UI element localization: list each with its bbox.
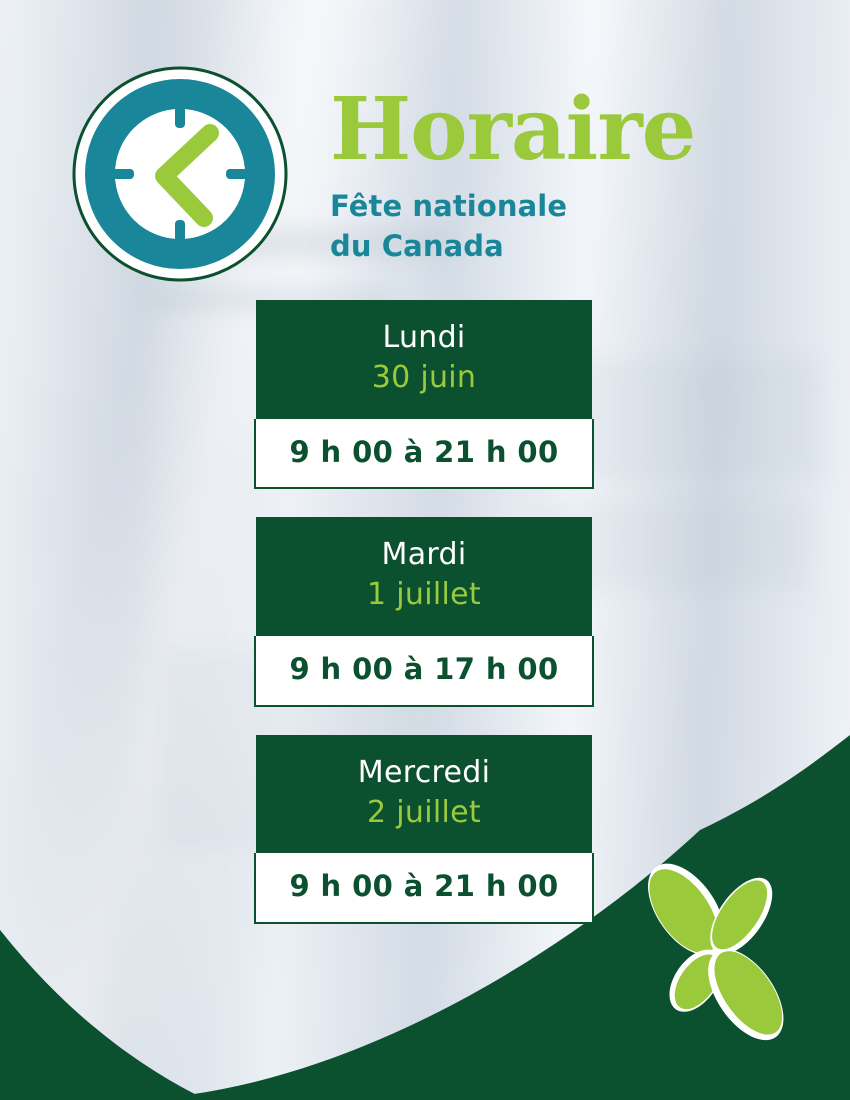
page-subtitle: Fête nationale du Canada: [330, 186, 750, 266]
schedule-card-body: 9 h 00 à 21 h 00: [254, 853, 594, 924]
page-title: Horaire: [330, 88, 750, 172]
schedule-card-list: Lundi 30 juin 9 h 00 à 21 h 00 Mardi 1 j…: [256, 300, 592, 924]
schedule-card-hours: 9 h 00 à 21 h 00: [262, 437, 586, 469]
schedule-card-date: 2 juillet: [266, 794, 582, 832]
page-subtitle-line1: Fête nationale: [330, 186, 750, 226]
schedule-card-day: Mercredi: [266, 755, 582, 791]
schedule-card: Mardi 1 juillet 9 h 00 à 17 h 00: [256, 517, 592, 706]
page-subtitle-line2: du Canada: [330, 226, 750, 266]
schedule-card-day: Lundi: [266, 320, 582, 356]
clock-icon: [72, 66, 288, 282]
schedule-card-date: 30 juin: [266, 359, 582, 397]
schedule-card-hours: 9 h 00 à 21 h 00: [262, 871, 586, 903]
schedule-card-header: Mardi 1 juillet: [256, 517, 592, 636]
schedule-card-header: Lundi 30 juin: [256, 300, 592, 419]
title-block: Horaire Fête nationale du Canada: [330, 88, 750, 266]
schedule-card: Mercredi 2 juillet 9 h 00 à 21 h 00: [256, 735, 592, 924]
butterfly-logo-icon: [612, 848, 820, 1056]
schedule-poster: Horaire Fête nationale du Canada Lundi 3…: [0, 0, 850, 1100]
schedule-card-date: 1 juillet: [266, 576, 582, 614]
schedule-card-body: 9 h 00 à 21 h 00: [254, 419, 594, 490]
schedule-card: Lundi 30 juin 9 h 00 à 21 h 00: [256, 300, 592, 489]
schedule-card-hours: 9 h 00 à 17 h 00: [262, 654, 586, 686]
schedule-card-day: Mardi: [266, 537, 582, 573]
schedule-card-header: Mercredi 2 juillet: [256, 735, 592, 854]
schedule-card-body: 9 h 00 à 17 h 00: [254, 636, 594, 707]
